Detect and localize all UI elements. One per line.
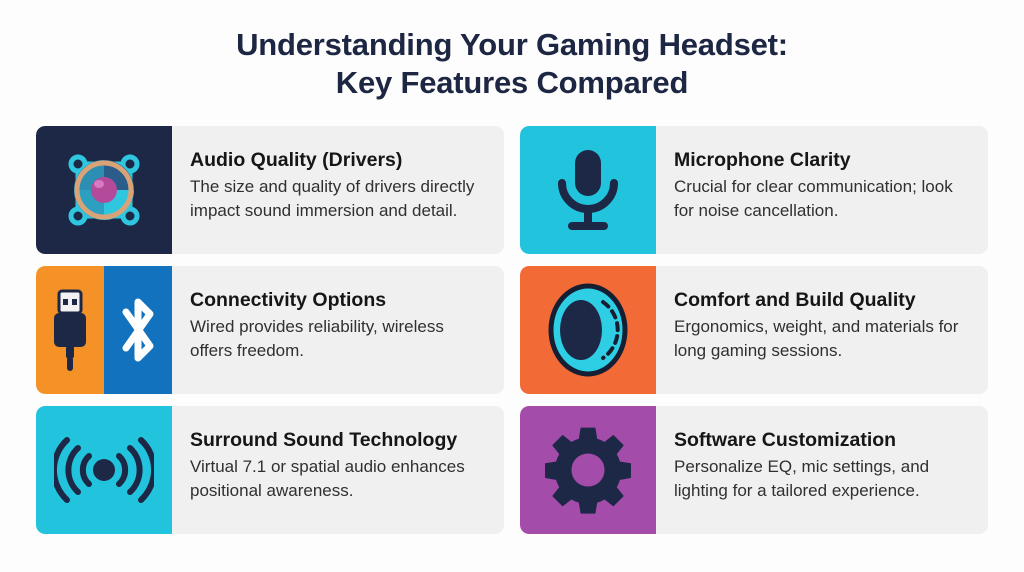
card-heading: Audio Quality (Drivers) <box>190 148 484 173</box>
card-description: Ergonomics, weight, and materials for lo… <box>674 315 968 363</box>
card-body: Audio Quality (Drivers) The size and qua… <box>172 126 504 254</box>
card-description: Wired provides reliability, wireless off… <box>190 315 484 363</box>
title-line-2: Key Features Compared <box>0 64 1024 102</box>
usb-tile-half <box>36 266 104 394</box>
card-heading: Software Customization <box>674 428 968 453</box>
feature-card-grid: Audio Quality (Drivers) The size and qua… <box>36 126 988 534</box>
card-description: Personalize EQ, mic settings, and lighti… <box>674 455 968 503</box>
card-body: Microphone Clarity Crucial for clear com… <box>656 126 988 254</box>
card-body: Connectivity Options Wired provides reli… <box>172 266 504 394</box>
icon-tile <box>36 406 172 534</box>
title-line-1: Understanding Your Gaming Headset: <box>0 26 1024 64</box>
infographic-page: Understanding Your Gaming Headset: Key F… <box>0 0 1024 572</box>
card-heading: Surround Sound Technology <box>190 428 484 453</box>
bluetooth-tile-half <box>104 266 172 394</box>
feature-card-connectivity-options[interactable]: Connectivity Options Wired provides reli… <box>36 266 504 394</box>
feature-card-microphone-clarity[interactable]: Microphone Clarity Crucial for clear com… <box>520 126 988 254</box>
card-body: Software Customization Personalize EQ, m… <box>656 406 988 534</box>
card-body: Surround Sound Technology Virtual 7.1 or… <box>172 406 504 534</box>
icon-tile <box>520 266 656 394</box>
bluetooth-icon <box>112 290 164 370</box>
icon-tile-split <box>36 266 172 394</box>
icon-tile <box>520 406 656 534</box>
usb-icon <box>45 287 95 373</box>
icon-tile <box>520 126 656 254</box>
microphone-icon <box>547 146 629 234</box>
ear-cushion-icon <box>545 282 631 378</box>
speaker-driver-icon <box>58 144 150 236</box>
card-description: Crucial for clear communication; look fo… <box>674 175 968 223</box>
feature-card-software-customization[interactable]: Software Customization Personalize EQ, m… <box>520 406 988 534</box>
feature-card-surround-sound[interactable]: Surround Sound Technology Virtual 7.1 or… <box>36 406 504 534</box>
card-heading: Connectivity Options <box>190 288 484 313</box>
card-heading: Microphone Clarity <box>674 148 968 173</box>
card-body: Comfort and Build Quality Ergonomics, we… <box>656 266 988 394</box>
feature-card-comfort-build-quality[interactable]: Comfort and Build Quality Ergonomics, we… <box>520 266 988 394</box>
card-description: The size and quality of drivers directly… <box>190 175 484 223</box>
surround-sound-waves-icon <box>54 430 154 510</box>
gear-icon <box>542 424 634 516</box>
feature-card-audio-quality[interactable]: Audio Quality (Drivers) The size and qua… <box>36 126 504 254</box>
icon-tile <box>36 126 172 254</box>
page-title: Understanding Your Gaming Headset: Key F… <box>0 0 1024 102</box>
card-description: Virtual 7.1 or spatial audio enhances po… <box>190 455 484 503</box>
card-heading: Comfort and Build Quality <box>674 288 968 313</box>
